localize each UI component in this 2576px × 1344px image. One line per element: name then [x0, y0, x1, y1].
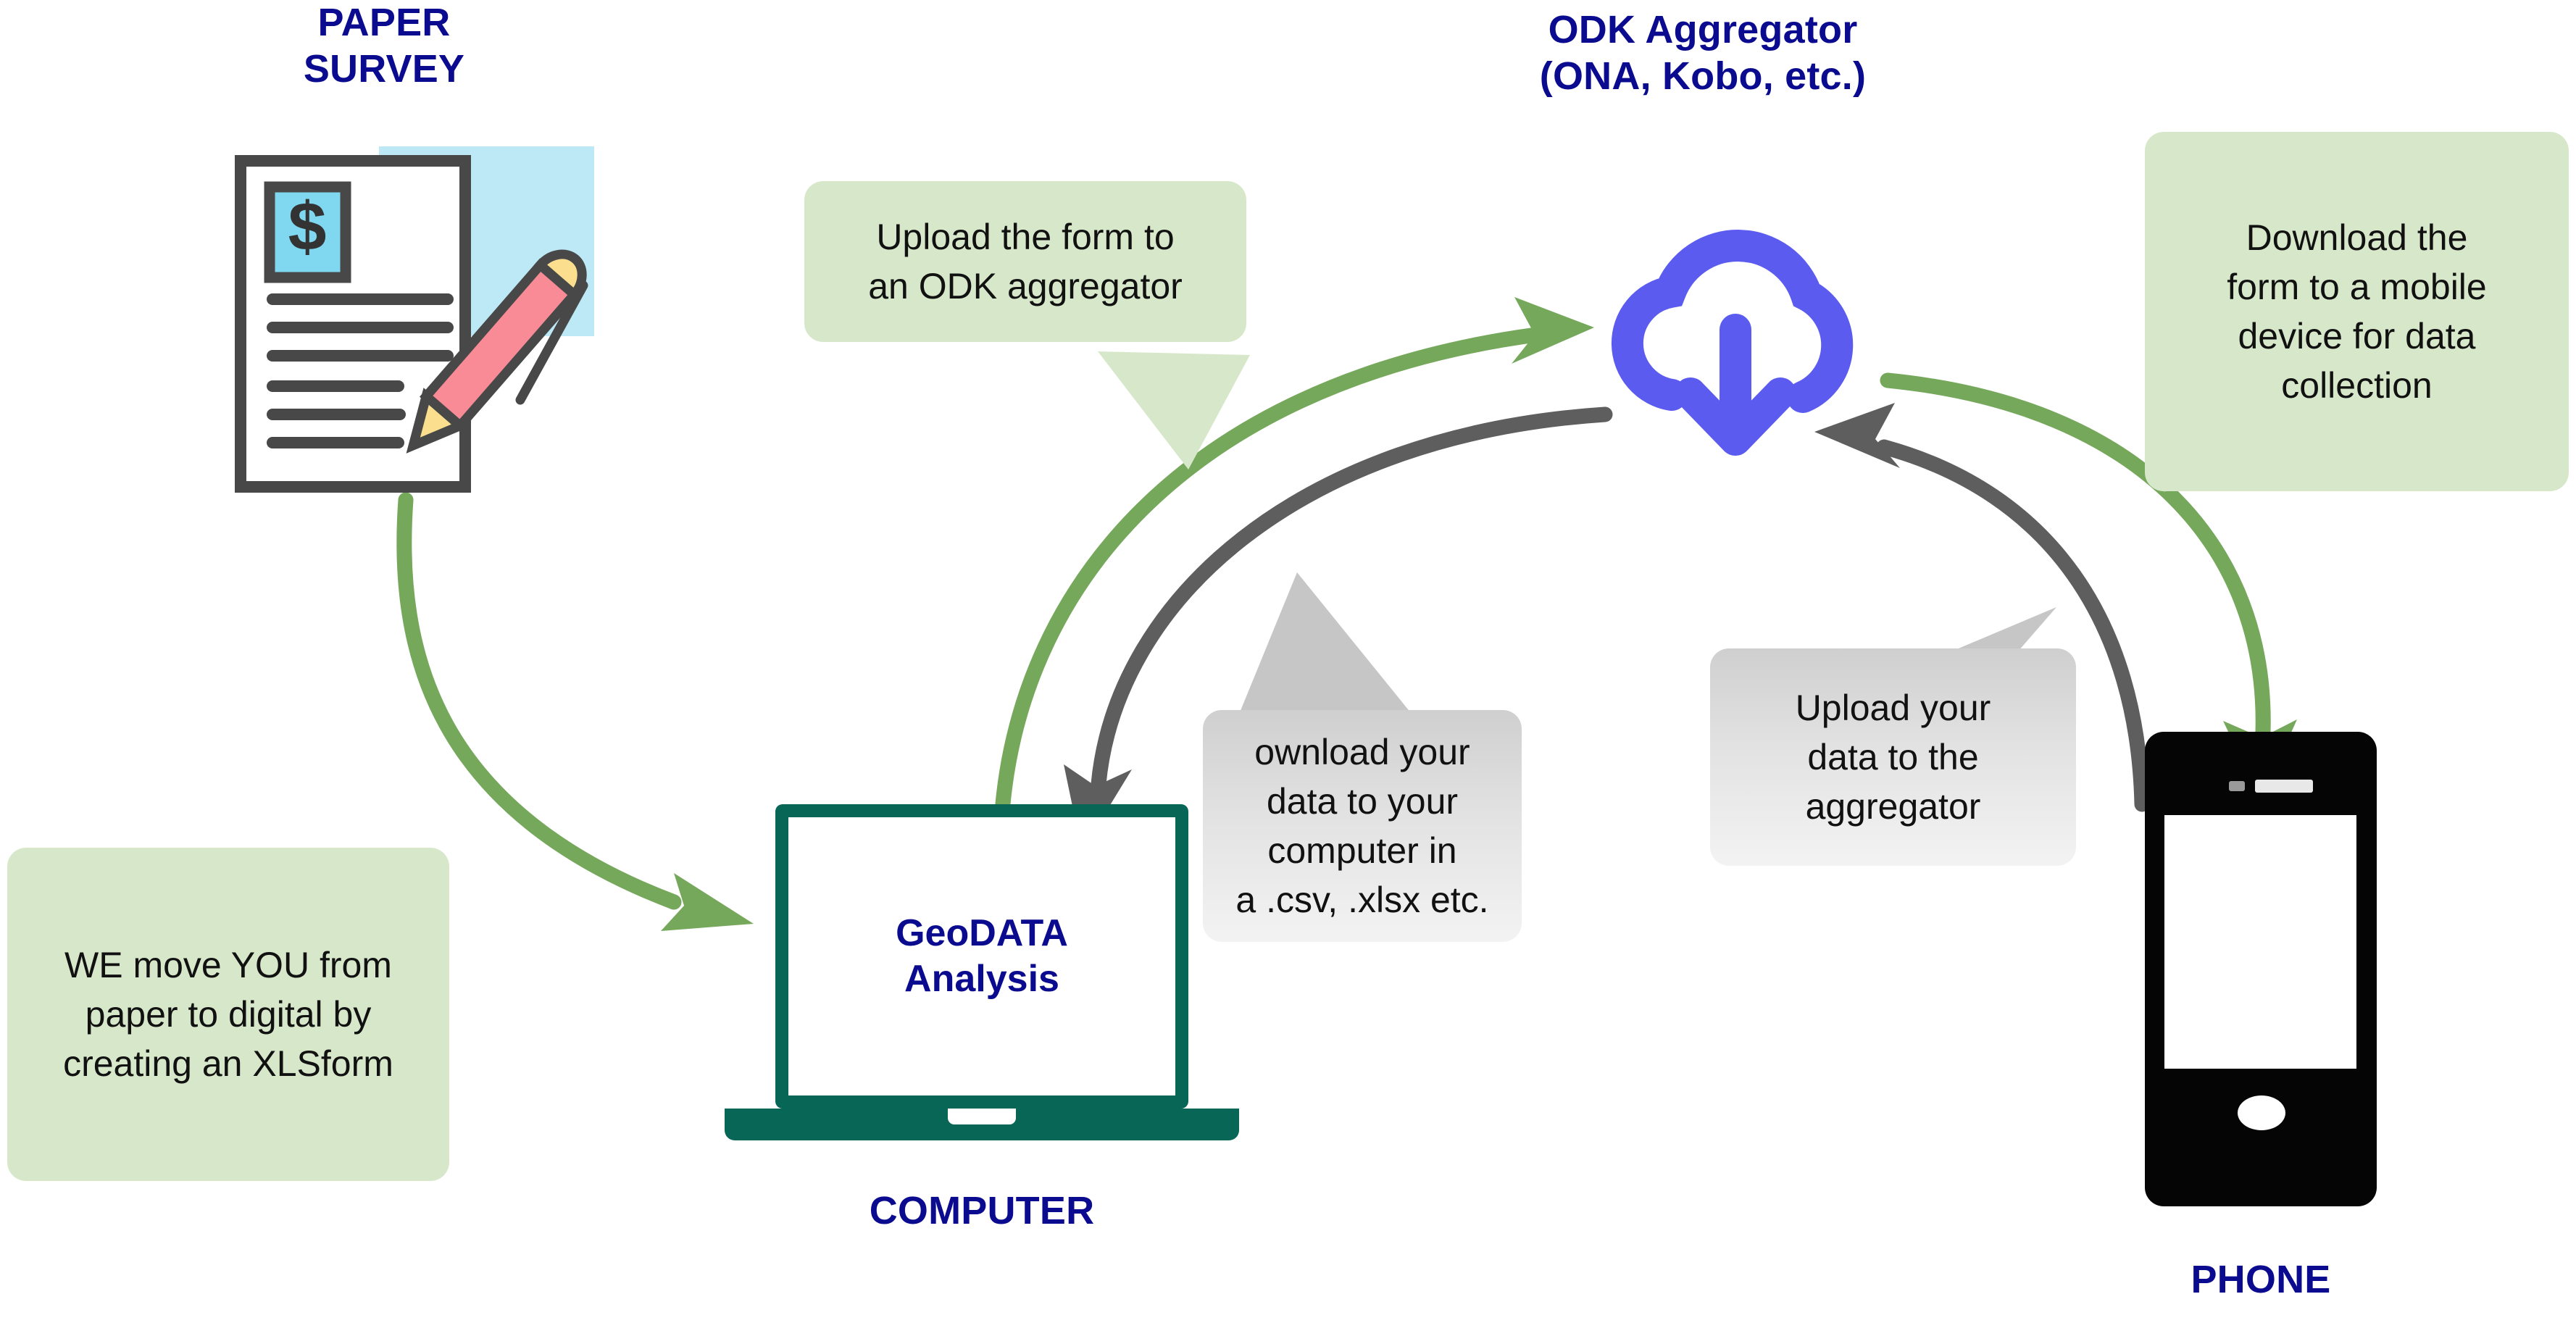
svg-text:$: $ [288, 188, 327, 265]
laptop-screen: GeoDATA Analysis [775, 804, 1188, 1109]
callout-xlsform-text: WE move YOU from paper to digital by cre… [63, 940, 393, 1088]
paper-survey-icon: $ [217, 130, 594, 507]
arrow-paper-to-computer [404, 500, 754, 931]
callout-upload-form-text: Upload the form to an ODK aggregator [868, 212, 1183, 311]
laptop-notch [948, 1109, 1016, 1124]
laptop-icon: GeoDATA Analysis [725, 804, 1239, 1152]
callout-download-data: ownload your data to your computer in a … [1203, 710, 1522, 942]
callout-upload-data: Upload your data to the aggregator [1710, 648, 2076, 866]
callout-upload-data-text: Upload your data to the aggregator [1796, 683, 1991, 831]
phone-home-button[interactable] [2238, 1095, 2285, 1130]
callout-upload-form: Upload the form to an ODK aggregator [804, 181, 1246, 342]
phone-label: PHONE [2116, 1257, 2406, 1303]
computer-label: COMPUTER [764, 1188, 1199, 1235]
phone-screen [2164, 815, 2356, 1069]
cloud-download-icon [1598, 185, 1873, 467]
diagram-canvas: PAPER SURVEY $ [0, 0, 2576, 1344]
callout-download-form: Download the form to a mobile device for… [2145, 132, 2569, 491]
paper-survey-label: PAPER SURVEY [239, 0, 529, 92]
callout-tail-upload-form [1098, 351, 1250, 469]
callout-download-form-text: Download the form to a mobile device for… [2227, 213, 2486, 410]
odk-aggregator-label: ODK Aggregator (ONA, Kobo, etc.) [1456, 7, 1949, 99]
phone-speaker-icon [2255, 780, 2313, 793]
phone-camera-icon [2229, 781, 2245, 791]
laptop-screen-text: GeoDATA Analysis [896, 911, 1068, 1003]
callout-download-data-text: ownload your data to your computer in a … [1235, 727, 1488, 924]
callout-xlsform: WE move YOU from paper to digital by cre… [7, 848, 449, 1181]
callout-tail-download-data [1232, 572, 1420, 732]
phone-icon [2145, 732, 2384, 1210]
